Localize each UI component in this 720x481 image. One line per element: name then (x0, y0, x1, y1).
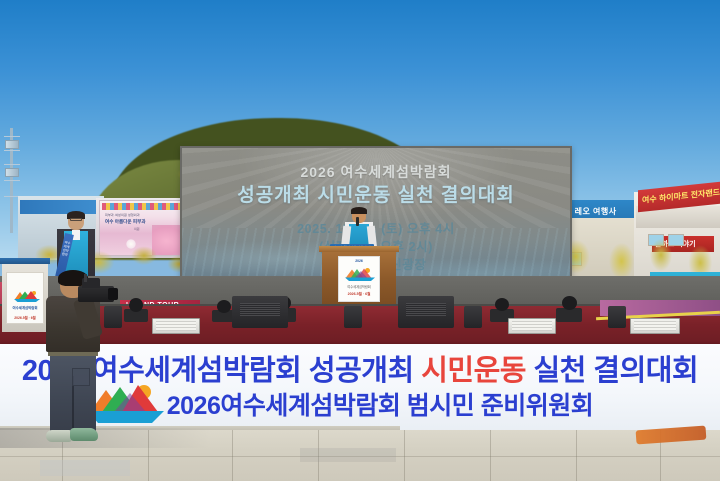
led-date-line: 2025. 11. 22. (토) 오후 4시 (182, 218, 570, 237)
podium-sign-top: 2026 (339, 259, 379, 263)
billboard-line2: 피부과·여성의원 성형외과 (105, 213, 140, 217)
moving-head-light (556, 296, 582, 322)
line-array-speaker (232, 296, 288, 328)
floor-wash-light (508, 318, 556, 334)
expo-logo-icon (345, 266, 375, 282)
stage-monitor-speaker (464, 306, 482, 328)
billboard-line3: 의원 (134, 227, 140, 231)
led-title-line2: 성공개최 시민운동 실천 결의대회 (182, 180, 570, 207)
billboard-line1: 여수 아름다운 피부과 (105, 219, 146, 225)
podium-sign-date: 2026.5월 · 6월 (339, 292, 379, 297)
floor-wash-light (152, 318, 200, 334)
photo-scene: 피부과·여성의원 성형외과 여수 아름다운 피부과 의원 3 랄 레오 여행사 … (0, 0, 720, 481)
expo-logo-icon-podium2 (14, 289, 40, 303)
banner-line1-part2: 실천 결의대회 (526, 355, 698, 387)
glasses (70, 218, 82, 221)
microphone (356, 217, 359, 226)
right-red-shop-sign-text: 여수 하이마트 전자랜드 (642, 187, 720, 206)
line-array-speaker (398, 296, 454, 328)
floor-wash-light (630, 318, 680, 334)
moving-head-light (124, 298, 148, 322)
stage-monitor-speaker (344, 306, 362, 328)
podium-sign-title: 여수세계섬박람회 (339, 284, 379, 289)
video-camera (78, 278, 118, 308)
stage-monitor-speaker (608, 306, 626, 328)
banner-line1-highlight: 시민운동 (421, 355, 526, 387)
podium-sign: 2026 여수세계섬박람회 2026.5월 · 6월 (338, 256, 380, 302)
led-title-line1: 2026 여수세계섬박람회 (182, 162, 570, 182)
